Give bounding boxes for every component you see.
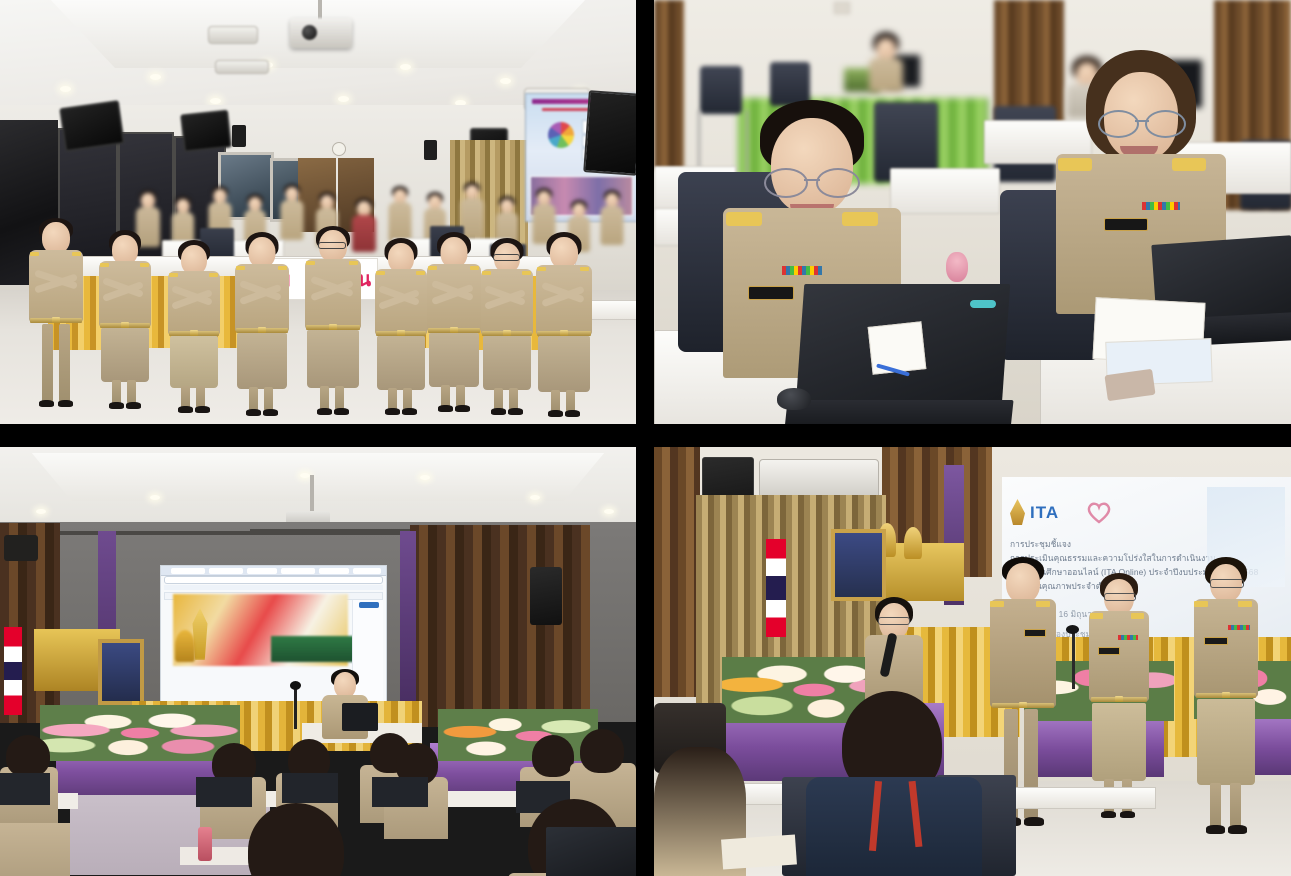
eyeglasses-icon	[493, 254, 520, 261]
royal-portrait	[831, 529, 886, 601]
ita-logo-text: ITA	[1030, 503, 1059, 523]
rank-insignia	[1142, 202, 1180, 210]
rank-insignia	[782, 266, 822, 275]
eyeglasses-icon	[764, 168, 860, 194]
panel-bottom-left[interactable]	[0, 447, 636, 876]
microphone-icon	[1066, 625, 1079, 634]
laptop[interactable]	[196, 777, 252, 807]
audience-body-foreground	[0, 823, 70, 876]
thai-flag	[766, 539, 786, 637]
ceiling-recess	[32, 453, 604, 501]
air-conditioner	[208, 26, 258, 44]
downlight-icon	[150, 495, 160, 500]
tv-monitor	[180, 110, 232, 153]
browser-url-bar[interactable]	[164, 576, 383, 584]
wood-wall-panel	[654, 0, 684, 170]
name-badge	[1204, 637, 1228, 645]
page-button[interactable]	[359, 602, 379, 608]
person-front-2	[96, 230, 154, 416]
audience-head	[580, 729, 624, 773]
wall-clock-icon	[332, 142, 346, 156]
speaker-female-2	[1190, 557, 1262, 847]
background-person	[868, 32, 904, 94]
air-conditioner	[215, 60, 269, 74]
water-bottle	[198, 827, 212, 861]
computer-mouse[interactable]	[777, 388, 811, 410]
wood-wall-panel	[410, 525, 590, 727]
panel-top-left[interactable]: สพ น	[0, 0, 636, 424]
downlight-icon	[604, 509, 614, 514]
ita-emblem-icon	[1010, 499, 1025, 525]
microphone-icon	[290, 681, 301, 690]
downlight-icon	[400, 64, 411, 70]
eyeglasses-icon	[318, 242, 346, 249]
royal-portrait	[98, 639, 144, 705]
audience-body-foreground	[806, 777, 982, 876]
downlight-icon	[338, 96, 349, 102]
person-front-5	[302, 226, 364, 420]
projection-line-1: การประชุมชี้แจง	[1010, 537, 1071, 551]
speaker-icon	[530, 567, 562, 625]
laptop[interactable]	[372, 777, 428, 807]
thai-flag	[4, 627, 22, 715]
photo-collage: สพ น	[0, 0, 1291, 876]
downlight-icon	[150, 74, 161, 80]
downlight-icon	[36, 509, 46, 514]
buddha-statue-icon	[904, 527, 922, 559]
name-badge	[1024, 629, 1046, 637]
wall-outlet-icon	[834, 2, 850, 14]
panel-bottom-right[interactable]: ITA การประชุมชี้แจง การประเมินคุณธรรมและ…	[654, 447, 1291, 876]
tv-monitor	[583, 90, 636, 176]
laptop[interactable]	[0, 773, 50, 805]
speaker-icon	[232, 125, 246, 147]
downlight-icon	[530, 495, 540, 500]
microphone-stand	[1072, 629, 1075, 689]
browser-tab-bar	[161, 566, 386, 576]
person-front-9	[533, 232, 595, 422]
eyeglasses-icon	[1104, 593, 1136, 601]
downlight-icon	[210, 98, 221, 104]
name-badge	[1104, 218, 1148, 231]
person-front-3	[165, 240, 223, 418]
wood-wall-panel	[654, 447, 700, 697]
panel-top-right[interactable]	[654, 0, 1291, 424]
person-front-7	[424, 232, 484, 418]
rank-insignia	[1118, 635, 1138, 640]
person-front-4	[232, 232, 292, 420]
projector-icon	[290, 18, 352, 48]
name-badge	[1098, 647, 1120, 655]
sign-graphic	[271, 636, 355, 662]
eyeglasses-icon	[1210, 579, 1244, 588]
keychain-charm	[946, 252, 968, 282]
desk	[1012, 787, 1156, 809]
tv-monitor	[59, 100, 125, 152]
downlight-icon	[500, 78, 511, 84]
downlight-icon	[300, 473, 310, 478]
person-front-8	[478, 238, 536, 420]
laptop[interactable]	[546, 827, 636, 876]
laptop[interactable]	[282, 773, 338, 803]
bookmarks-bar	[164, 585, 383, 590]
projector-mount	[310, 475, 314, 513]
eyeglasses-icon	[1098, 110, 1186, 134]
laptop[interactable]	[342, 703, 378, 731]
heart-logo-icon	[1086, 501, 1112, 524]
eyeglasses-icon	[878, 617, 910, 625]
speaker-icon	[424, 140, 437, 160]
laptop-keyboard[interactable]	[784, 400, 1013, 424]
person-front-6	[372, 238, 430, 420]
downlight-icon	[420, 475, 430, 480]
speaker-icon	[4, 535, 38, 561]
audience-head	[6, 735, 50, 777]
microphone-icon	[294, 685, 297, 729]
papers	[721, 834, 797, 869]
person-front-1	[26, 218, 86, 414]
downlight-icon	[60, 86, 71, 92]
purple-wall-drape	[400, 531, 416, 701]
name-badge	[748, 286, 794, 300]
audience-head	[532, 735, 574, 777]
bracelet	[970, 300, 996, 308]
rank-insignia	[1228, 625, 1250, 630]
projector-mount	[318, 0, 322, 20]
monk-figure-graphic	[175, 630, 195, 662]
